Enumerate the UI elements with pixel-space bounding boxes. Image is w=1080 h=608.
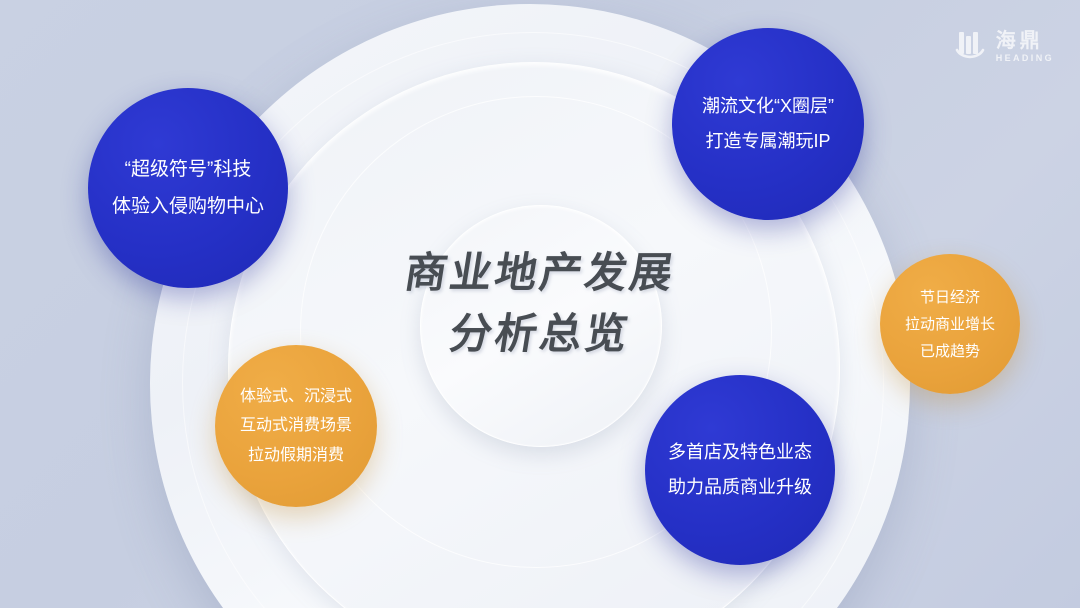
brand-logo: 海鼎 HEADING (955, 30, 1054, 64)
bubble-immersive-consumption[interactable]: 体验式、沉浸式 互动式消费场景 拉动假期消费 (215, 345, 377, 507)
building-logo-icon (955, 30, 987, 64)
title-line-1: 商业地产发展 (325, 243, 755, 304)
bubble-immersive-line-1: 体验式、沉浸式 (240, 382, 352, 412)
bubble-holiday-economy[interactable]: 节日经济 拉动商业增长 已成趋势 (880, 254, 1020, 394)
bubble-immersive-line-2: 互动式消费场景 (240, 411, 352, 441)
bubble-immersive-line-3: 拉动假期消费 (248, 441, 344, 471)
bubble-super-symbol-line-2: 体验入侵购物中心 (112, 188, 264, 225)
brand-logo-text: 海鼎 HEADING (996, 31, 1054, 63)
page-title: 商业地产发展 分析总览 (330, 243, 750, 365)
bubble-trend-culture[interactable]: 潮流文化“X圈层” 打造专属潮玩IP (672, 28, 864, 220)
brand-name-cn: 海鼎 (996, 31, 1054, 51)
bubble-trend-culture-line-1: 潮流文化“X圈层” (702, 89, 834, 124)
brand-name-en: HEADING (996, 54, 1054, 63)
slide-canvas: 商业地产发展 分析总览 “超级符号”科技 体验入侵购物中心 潮流文化“X圈层” … (0, 0, 1080, 608)
title-line-2: 分析总览 (325, 304, 755, 365)
bubble-super-symbol[interactable]: “超级符号”科技 体验入侵购物中心 (88, 88, 288, 288)
bubble-first-stores-line-2: 助力品质商业升级 (668, 470, 812, 505)
bubble-holiday-economy-line-3: 已成趋势 (920, 338, 980, 365)
bubble-holiday-economy-line-2: 拉动商业增长 (905, 311, 995, 338)
bubble-holiday-economy-line-1: 节日经济 (920, 284, 980, 311)
bubble-first-stores[interactable]: 多首店及特色业态 助力品质商业升级 (645, 375, 835, 565)
bubble-super-symbol-line-1: “超级符号”科技 (125, 151, 252, 188)
bubble-first-stores-line-1: 多首店及特色业态 (668, 435, 812, 470)
bubble-trend-culture-line-2: 打造专属潮玩IP (705, 124, 830, 159)
inner-title-circle (420, 205, 662, 447)
